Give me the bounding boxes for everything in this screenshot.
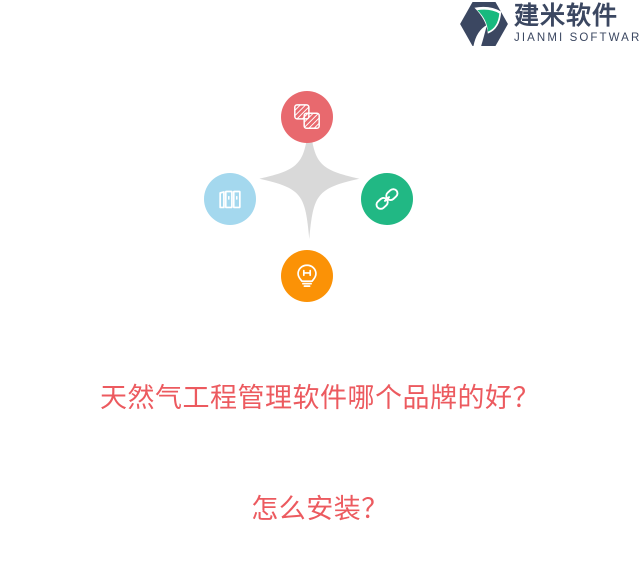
central-diagram xyxy=(190,78,430,306)
diagram-node-left[interactable] xyxy=(204,173,256,225)
page-title: 天然气工程管理软件哪个品牌的好？ 怎么安装？ xyxy=(0,306,640,565)
page-title-line-1: 天然气工程管理软件哪个品牌的好？ xyxy=(0,380,640,417)
lightbulb-idea-icon xyxy=(292,261,322,291)
page-title-line-2: 怎么安装？ xyxy=(0,491,640,528)
diagram-node-top[interactable] xyxy=(281,91,333,143)
diagram-node-right[interactable] xyxy=(361,173,413,225)
chain-link-icon xyxy=(372,184,402,214)
brand-name-en: JIANMI SOFTWARE xyxy=(514,33,640,45)
brand-name-cn: 建米软件 xyxy=(514,3,640,28)
layers-copy-icon xyxy=(292,102,322,132)
books-shelf-icon xyxy=(215,184,245,214)
brand-logo: 建米软件 JIANMI SOFTWARE xyxy=(460,0,640,48)
hexagon-leaf-logo-icon xyxy=(460,2,508,46)
diagram-node-bottom[interactable] xyxy=(281,250,333,302)
brand-text: 建米软件 JIANMI SOFTWARE xyxy=(514,3,640,45)
